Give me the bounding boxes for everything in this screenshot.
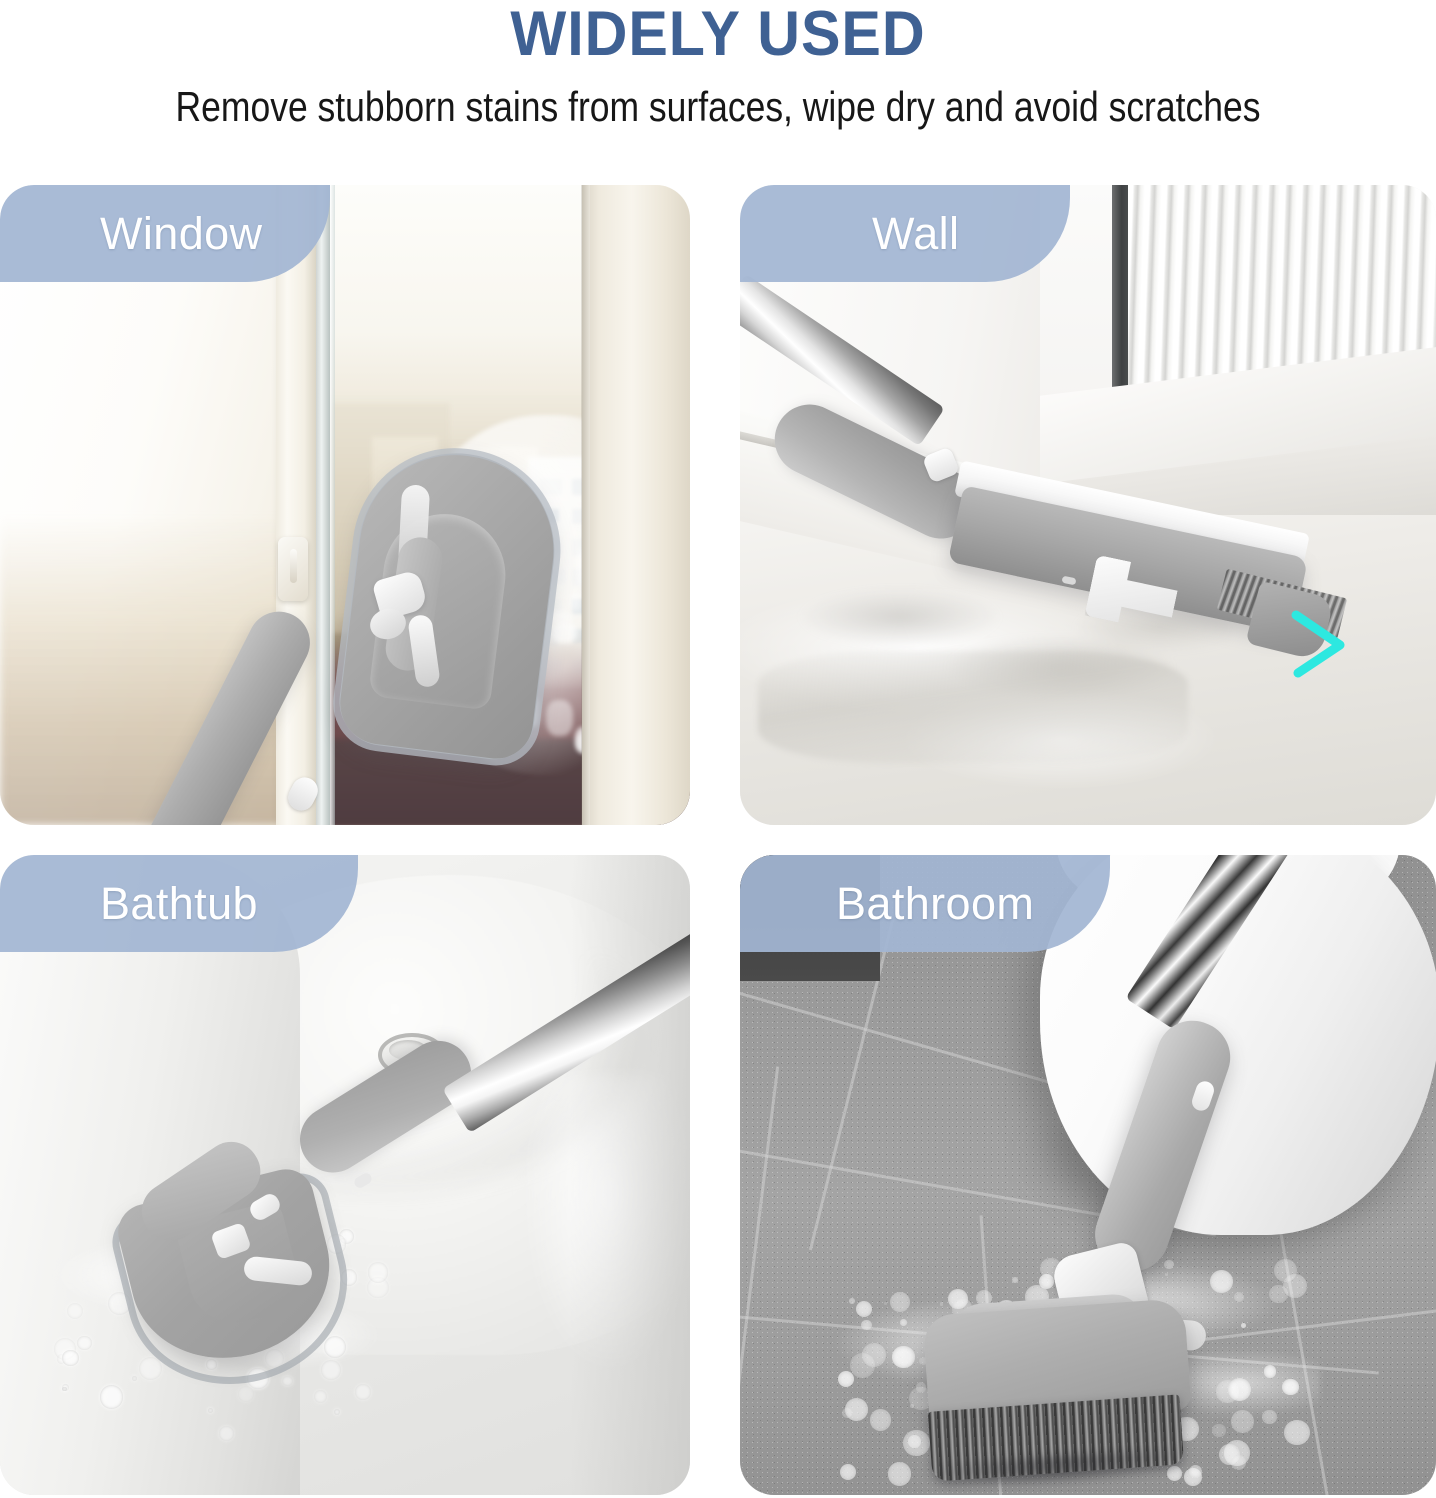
- panel-label-bathtub: Bathtub: [100, 879, 258, 929]
- feature-panel-grid: Window: [0, 185, 1436, 1498]
- panel-wall[interactable]: Wall: [740, 185, 1436, 825]
- panel-window[interactable]: Window: [0, 185, 690, 825]
- window-latch-handle: [278, 537, 308, 601]
- panel-bathroom[interactable]: Bathroom: [740, 855, 1436, 1495]
- header: WIDELY USED Remove stubborn stains from …: [0, 0, 1436, 178]
- panel-label-tab-wall: Wall: [740, 185, 1070, 282]
- crevice-arrow-icon: [1288, 609, 1356, 679]
- window-frame-inner: [316, 185, 330, 825]
- panel-label-window: Window: [100, 209, 262, 259]
- page-title: WIDELY USED: [43, 0, 1393, 70]
- wall-floor-streak: [758, 651, 1188, 763]
- panel-label-tab-window: Window: [0, 185, 330, 282]
- window-right-wall: [582, 185, 690, 825]
- panel-label-tab-bathroom: Bathroom: [740, 855, 1110, 952]
- window-glass-edge: [330, 185, 335, 825]
- page-subtitle: Remove stubborn stains from surfaces, wi…: [111, 82, 1324, 132]
- panel-label-bathroom: Bathroom: [836, 879, 1034, 929]
- window-right-wall-edge: [581, 185, 590, 825]
- panel-bathtub[interactable]: Bathtub: [0, 855, 690, 1495]
- panel-label-tab-bathtub: Bathtub: [0, 855, 358, 952]
- panel-label-wall: Wall: [872, 209, 959, 259]
